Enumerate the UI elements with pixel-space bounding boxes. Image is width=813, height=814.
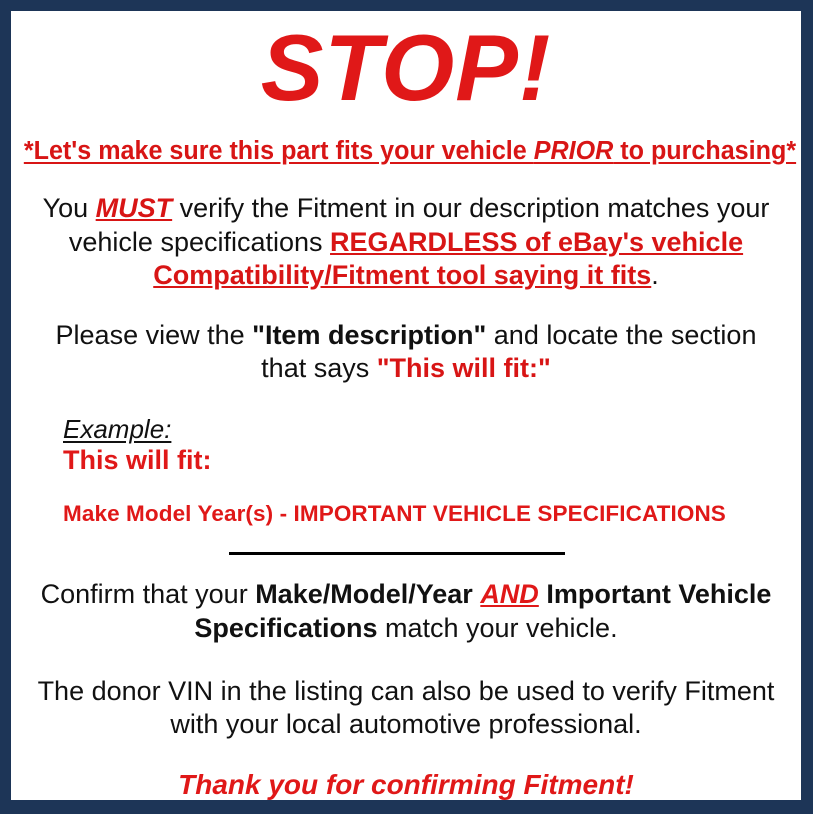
view-paragraph-part1: Please view the: [56, 320, 253, 350]
item-description-quote: "Item description": [252, 320, 486, 350]
subtitle-tail-text: to purchasing*: [613, 137, 796, 165]
notice-content-area: STOP! *Let's make sure this part fits yo…: [11, 11, 801, 800]
example-label-row: Example:: [63, 415, 794, 443]
fitment-notice-card: STOP! *Let's make sure this part fits yo…: [0, 0, 813, 814]
must-verify-paragraph: You MUST verify the Fitment in our descr…: [18, 166, 794, 292]
make-model-year-emphasis: Make/Model/Year: [255, 579, 473, 609]
divider-container: [18, 526, 794, 555]
this-will-fit-quote: "This will fit:": [377, 353, 551, 383]
must-paragraph-period: .: [651, 260, 659, 290]
confirm-paragraph-part2: match your vehicle.: [377, 613, 617, 643]
thank-you-line: Thank you for confirming Fitment!: [18, 741, 794, 802]
example-block: Example: This will fit: Make Model Year(…: [18, 385, 794, 526]
example-spec-line: Make Model Year(s) - IMPORTANT VEHICLE S…: [63, 476, 794, 527]
example-fit-heading: This will fit:: [63, 443, 794, 475]
subtitle-lead-text: *Let's make sure this part fits your veh…: [24, 137, 534, 165]
subtitle-banner: *Let's make sure this part fits your veh…: [24, 113, 788, 166]
subtitle-prior-emphasis: PRIOR: [534, 137, 614, 165]
must-emphasis-word: MUST: [96, 193, 173, 223]
stop-headline: STOP!: [18, 11, 794, 113]
must-paragraph-part1: You: [43, 193, 96, 223]
confirm-paragraph-part1: Confirm that your: [41, 579, 256, 609]
donor-vin-paragraph: The donor VIN in the listing can also be…: [18, 645, 794, 741]
item-description-paragraph: Please view the "Item description" and l…: [18, 292, 794, 385]
example-label: Example:: [63, 415, 171, 443]
confirm-paragraph: Confirm that your Make/Model/Year AND Im…: [18, 555, 794, 644]
and-emphasis-word: AND: [480, 579, 539, 609]
